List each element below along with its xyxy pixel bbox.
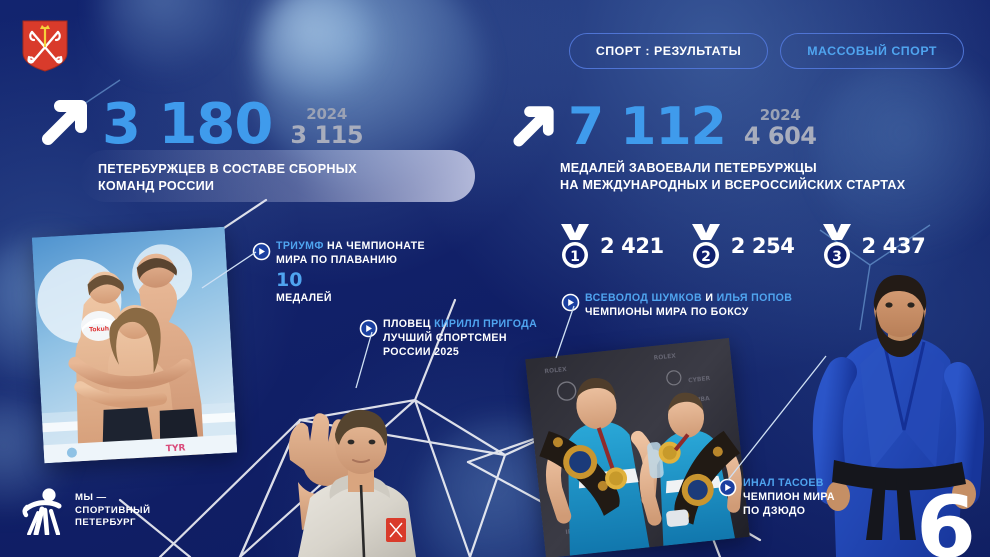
- swimmer-waving-photo: [268, 372, 444, 557]
- saint-petersburg-coat-of-arms-icon: [22, 20, 68, 72]
- svg-text:TYR: TYR: [166, 443, 186, 454]
- stat-caption-line-1: ПЕТЕРБУРЖЦЕВ В СОСТАВЕ СБОРНЫХ: [98, 161, 363, 178]
- annotation-line-2: ЧЕМПИОН МИРА: [743, 491, 835, 505]
- annotation-line-3: РОССИИ 2025: [383, 346, 537, 360]
- tab-bar: СПОРТ : РЕЗУЛЬТАТЫ МАССОВЫЙ СПОРТ: [569, 33, 964, 69]
- annotation-connector-line: [198, 248, 258, 292]
- annotation-swimmer-prigoda: ПЛОВЕЦ КИРИЛЛ ПРИГОДА ЛУЧШИЙ СПОРТСМЕН Р…: [365, 318, 537, 360]
- medal-place-number: 2: [701, 249, 711, 265]
- annotation-rest: НА ЧЕМПИОНАТЕ: [327, 240, 425, 252]
- stat-comparison: 2024 4 604: [744, 108, 817, 149]
- medal-gold: 1 2 421: [557, 222, 664, 270]
- annotation-conjunction: И: [705, 292, 713, 304]
- medal-place-number: 3: [832, 249, 842, 265]
- annotation-line-2: МИРА ПО ПЛАВАНИЮ: [276, 254, 425, 268]
- running-person-icon: [20, 487, 66, 535]
- medal-bronze: 3 2 437: [819, 222, 926, 270]
- stat-caption-line-1: МЕДАЛЕЙ ЗАВОЕВАЛИ ПЕТЕРБУРЖЦЫ: [560, 160, 905, 177]
- annotation-boxers: ВСЕВОЛОД ШУМКОВ И ИЛЬЯ ПОПОВ ЧЕМПИОНЫ МИ…: [567, 292, 792, 320]
- annotation-highlight-1: ВСЕВОЛОД ШУМКОВ: [585, 292, 702, 304]
- annotation-line-1: ВСЕВОЛОД ШУМКОВ И ИЛЬЯ ПОПОВ: [585, 292, 792, 306]
- medal-silver: 2 2 254: [688, 222, 795, 270]
- medal-count: 2 421: [600, 234, 664, 258]
- arrow-up-right-icon: [36, 93, 94, 149]
- medal-bronze-icon: 3: [819, 222, 855, 270]
- svg-text:Tokuh: Tokuh: [89, 325, 109, 333]
- annotation-highlight: ТРИУМФ: [276, 240, 324, 252]
- brand-logo-text: МЫ — СПОРТИВНЫЙ ПЕТЕРБУРГ: [75, 492, 150, 531]
- annotation-line-1: ПЛОВЕЦ КИРИЛЛ ПРИГОДА: [383, 318, 537, 332]
- tab-sport-results[interactable]: СПОРТ : РЕЗУЛЬТАТЫ: [569, 33, 768, 69]
- annotation-line-1: ТРИУМФ НА ЧЕМПИОНАТЕ: [276, 240, 425, 254]
- medal-count: 2 254: [731, 234, 795, 258]
- annotation-swimming-triumph: ТРИУМФ НА ЧЕМПИОНАТЕ МИРА ПО ПЛАВАНИЮ 10…: [258, 240, 425, 306]
- compare-value: 4 604: [744, 124, 817, 149]
- annotation-connector-line: [722, 352, 832, 484]
- annotation-connector-line: [552, 304, 578, 362]
- brand-logo: МЫ — СПОРТИВНЫЙ ПЕТЕРБУРГ: [20, 487, 150, 535]
- medal-count: 2 437: [862, 234, 926, 258]
- stat-value: 7 112: [568, 104, 726, 152]
- boxers-belts-photo: ROLEXROLEX IBACYBER IBAIBA ROLROLE: [525, 338, 750, 557]
- annotation-connector-line: [352, 330, 376, 392]
- medal-silver-icon: 2: [688, 222, 724, 270]
- stat-caption: ПЕТЕРБУРЖЦЕВ В СОСТАВЕ СБОРНЫХ КОМАНД РО…: [98, 161, 363, 195]
- stat-caption-line-2: НА МЕЖДУНАРОДНЫХ И ВСЕРОССИЙСКИХ СТАРТАХ: [560, 177, 905, 194]
- annotation-line-2: ЛУЧШИЙ СПОРТСМЕН: [383, 332, 537, 346]
- annotation-line-2: ЧЕМПИОНЫ МИРА ПО БОКСУ: [585, 306, 792, 320]
- medal-breakdown: 1 2 421 2 2 254 3 2 437: [557, 222, 925, 270]
- annotation-highlight: КИРИЛЛ ПРИГОДА: [434, 318, 537, 330]
- stat-caption: МЕДАЛЕЙ ЗАВОЕВАЛИ ПЕТЕРБУРЖЦЫ НА МЕЖДУНА…: [560, 160, 905, 194]
- page-number: 6: [916, 485, 976, 557]
- annotation-medal-label: МЕДАЛЕЙ: [276, 292, 425, 306]
- annotation-medal-count: 10: [276, 270, 425, 292]
- annotation-highlight-2: ИЛЬЯ ПОПОВ: [717, 292, 793, 304]
- tab-mass-sport[interactable]: МАССОВЫЙ СПОРТ: [780, 33, 964, 69]
- stat-caption-line-2: КОМАНД РОССИИ: [98, 178, 363, 195]
- medal-place-number: 1: [570, 249, 580, 265]
- stat-block-medals: 7 112 2024 4 604 МЕДАЛЕЙ ЗАВОЕВАЛИ ПЕТЕР…: [508, 100, 905, 194]
- annotation-prefix: ПЛОВЕЦ: [383, 318, 431, 330]
- stat-value: 3 180: [102, 99, 272, 151]
- compare-value: 3 115: [290, 123, 363, 148]
- annotation-line-3: ПО ДЗЮДО: [743, 505, 835, 519]
- medal-gold-icon: 1: [557, 222, 593, 270]
- stat-comparison: 2024 3 115: [290, 107, 363, 148]
- arrow-up-right-icon: [508, 100, 560, 150]
